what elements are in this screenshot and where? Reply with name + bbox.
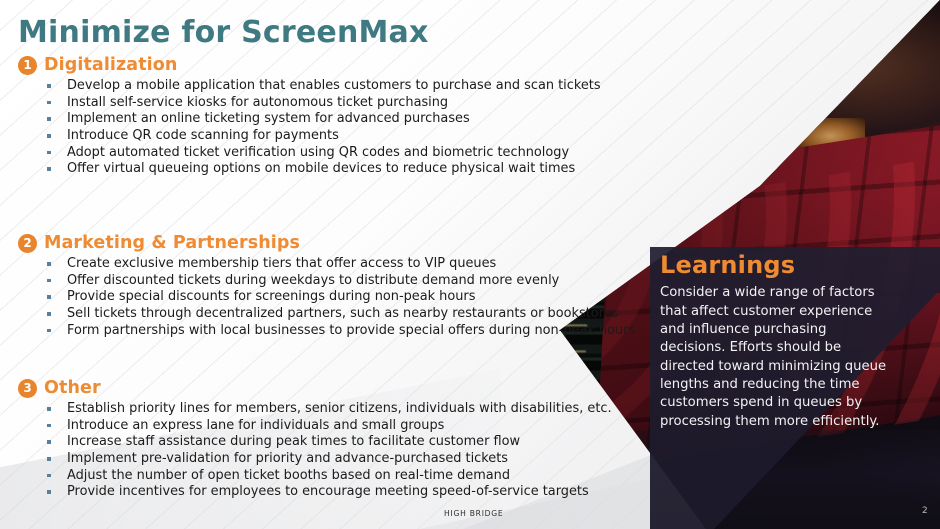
page-title: Minimize for ScreenMax <box>18 15 429 50</box>
section-bullet-list: Create exclusive membership tiers that o… <box>18 256 635 338</box>
section-header: 2 Marketing & Partnerships <box>18 233 635 253</box>
section-number-badge: 3 <box>18 379 37 398</box>
learnings-block: Learnings Consider a wide range of facto… <box>660 252 890 431</box>
list-item: Offer discounted tickets during weekdays… <box>46 273 635 289</box>
section-title: Other <box>44 378 101 398</box>
section-number-badge: 1 <box>18 56 37 75</box>
list-item: Develop a mobile application that enable… <box>46 78 601 94</box>
list-item: Provide special discounts for screenings… <box>46 289 635 305</box>
section-title: Marketing & Partnerships <box>44 233 300 253</box>
list-item: Implement an online ticketing system for… <box>46 111 601 127</box>
page-number: 2 <box>922 506 928 516</box>
list-item: Introduce an express lane for individual… <box>46 418 612 434</box>
list-item: Install self-service kiosks for autonomo… <box>46 95 601 111</box>
section-header: 1 Digitalization <box>18 55 601 75</box>
list-item: Create exclusive membership tiers that o… <box>46 256 635 272</box>
list-item: Provide incentives for employees to enco… <box>46 484 612 500</box>
list-item: Offer virtual queueing options on mobile… <box>46 161 601 177</box>
list-item: Establish priority lines for members, se… <box>46 401 612 417</box>
slide: Learnings Consider a wide range of facto… <box>0 0 940 529</box>
section-bullet-list: Develop a mobile application that enable… <box>18 78 601 177</box>
list-item: Introduce QR code scanning for payments <box>46 128 601 144</box>
list-item: Adopt automated ticket verification usin… <box>46 145 601 161</box>
list-item: Form partnerships with local businesses … <box>46 323 635 339</box>
learnings-title: Learnings <box>660 252 890 278</box>
list-item: Implement pre-validation for priority an… <box>46 451 612 467</box>
section-other: 3 Other Establish priority lines for mem… <box>18 378 612 501</box>
section-digitalization: 1 Digitalization Develop a mobile applic… <box>18 55 601 178</box>
section-header: 3 Other <box>18 378 612 398</box>
section-marketing-partnerships: 2 Marketing & Partnerships Create exclus… <box>18 233 635 339</box>
footer-brand: HIGH BRIDGE <box>444 509 503 518</box>
learnings-body: Consider a wide range of factors that af… <box>660 284 890 431</box>
section-bullet-list: Establish priority lines for members, se… <box>18 401 612 500</box>
list-item: Sell tickets through decentralized partn… <box>46 306 635 322</box>
section-number-badge: 2 <box>18 234 37 253</box>
list-item: Adjust the number of open ticket booths … <box>46 468 612 484</box>
list-item: Increase staff assistance during peak ti… <box>46 434 612 450</box>
section-title: Digitalization <box>44 55 177 75</box>
